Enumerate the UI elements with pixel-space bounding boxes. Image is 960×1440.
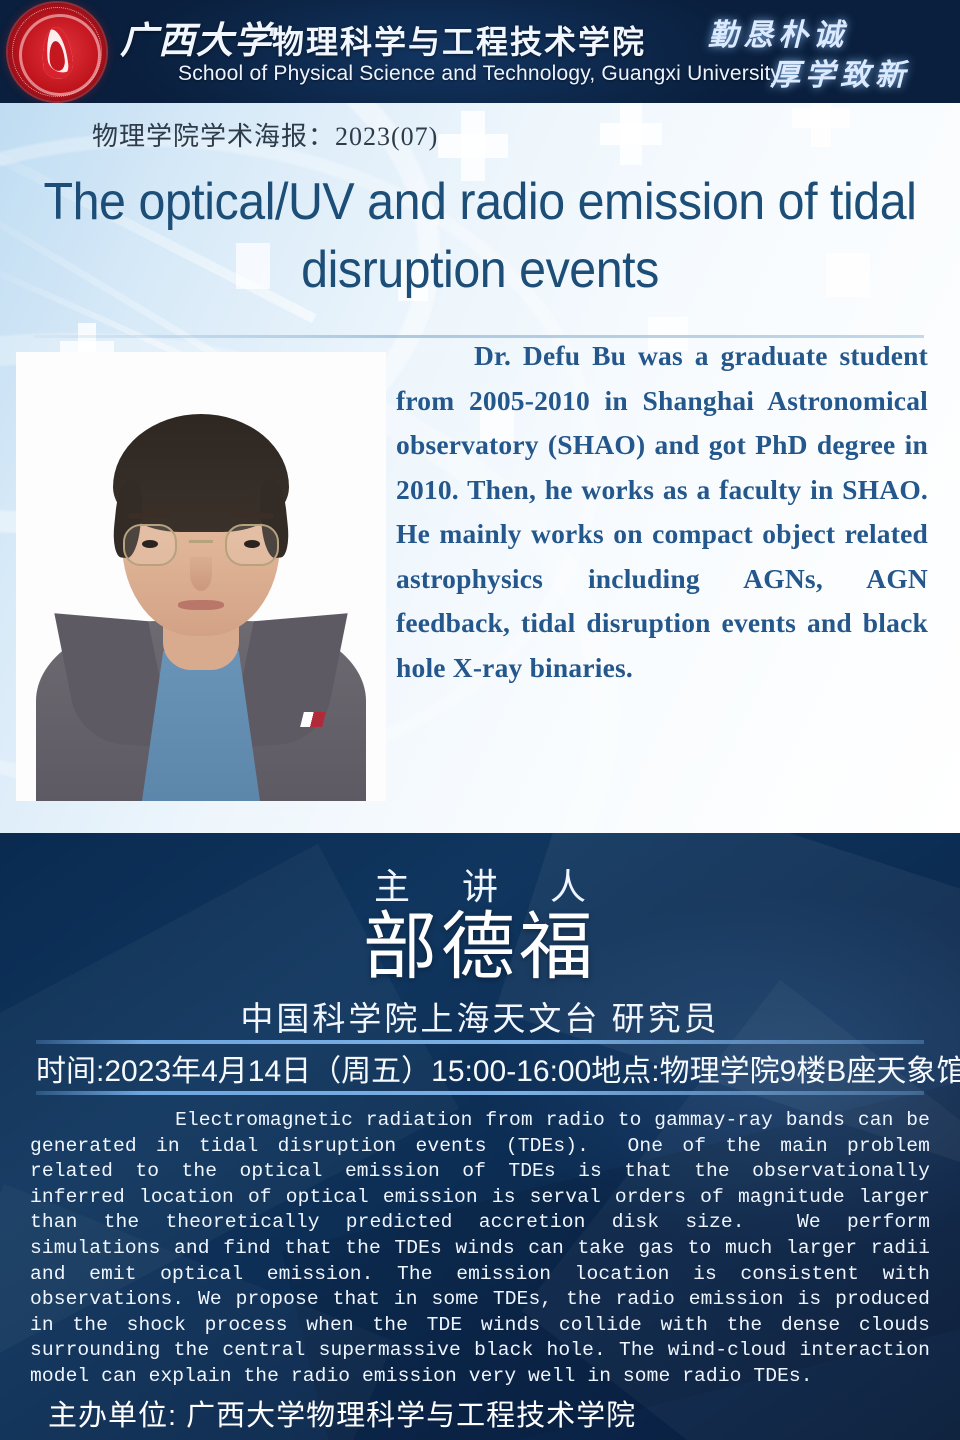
decorative-plus-3: [792, 103, 850, 147]
academic-poster: 广西大学物理科学与工程技术学院 School of Physical Scien…: [0, 0, 960, 1440]
event-time-value: 2023年4月14日（周五）15:00-16:00: [104, 1046, 591, 1090]
event-time-label: 时间:: [36, 1046, 104, 1090]
photo-eye-left: [142, 540, 158, 548]
organizer-line: 主办单位: 广西大学物理科学与工程技术学院: [48, 1392, 636, 1434]
photo-glasses-bridge: [189, 540, 213, 543]
speaker-bio: Dr. Defu Bu was a graduate student from …: [396, 334, 928, 690]
event-place-label: 地点:: [591, 1046, 659, 1090]
header-banner: 广西大学物理科学与工程技术学院 School of Physical Scien…: [0, 0, 960, 103]
event-divider-top: [36, 1040, 924, 1044]
speaker-affiliation: 中国科学院上海天文台 研究员: [0, 992, 960, 1040]
speaker-photo: [16, 352, 386, 801]
header-university-title: 广西大学物理科学与工程技术学院: [120, 10, 646, 64]
decorative-plus-2: [600, 103, 662, 165]
motto-line-2: 厚学致新: [770, 50, 910, 94]
event-place-value: 物理学院9楼B座天象馆: [660, 1046, 960, 1090]
photo-mouth: [178, 600, 224, 610]
header-university-name: 广西大学: [120, 21, 272, 62]
header-school-name: 物理科学与工程技术学院: [272, 24, 646, 60]
speaker-name: 部德福: [0, 905, 960, 989]
event-details: 时间: 2023年4月14日（周五）15:00-16:00 地点: 物理学院9楼…: [36, 1046, 924, 1090]
photo-lapel-pin: [300, 712, 326, 727]
header-school-name-en: School of Physical Science and Technolog…: [178, 62, 781, 86]
university-motto: 勤恳朴诚 厚学致新: [696, 8, 946, 96]
photo-nose: [190, 557, 212, 591]
poster-series-number: 物理学院学术海报：2023(07): [92, 116, 438, 153]
talk-title: The optical/UV and radio emission of tid…: [34, 168, 927, 304]
speaker-label: 主讲人: [0, 858, 960, 910]
event-divider-bottom: [36, 1091, 924, 1095]
abstract-text: Electromagnetic radiation from radio to …: [30, 1108, 930, 1390]
photo-eye-right: [244, 540, 260, 548]
university-seal-icon: [8, 3, 106, 101]
motto-line-1: 勤恳朴诚: [708, 10, 848, 54]
